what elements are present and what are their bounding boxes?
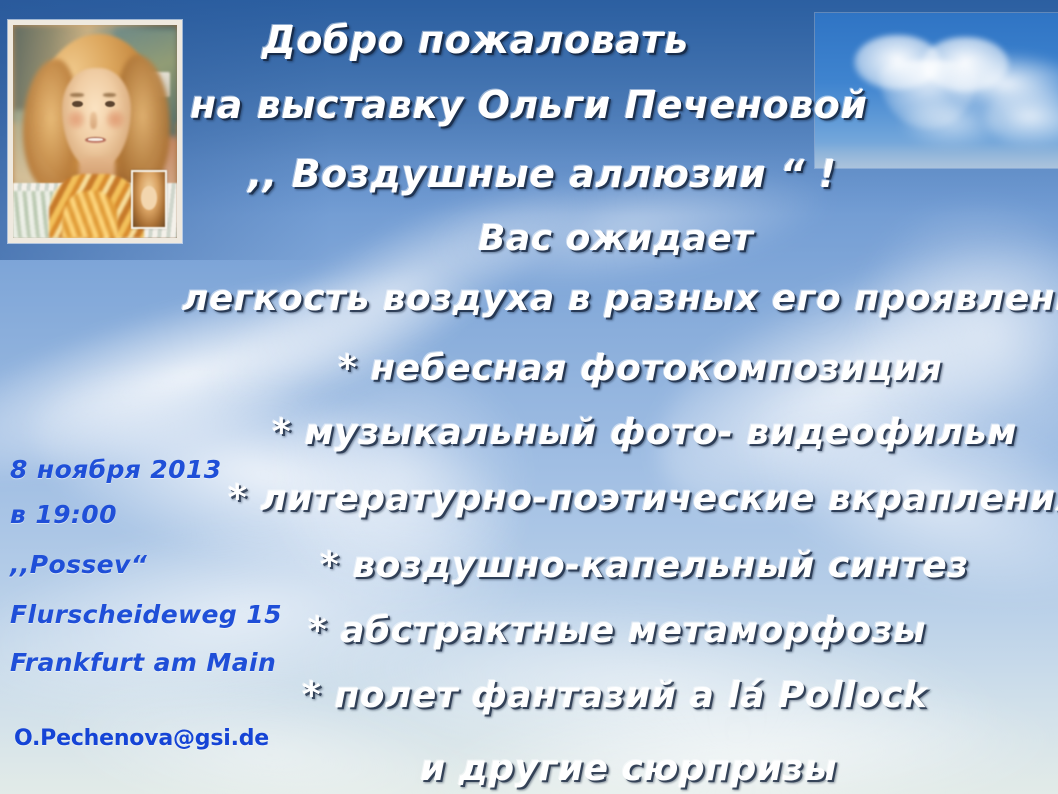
- body-line: * абстрактные метаморфозы: [308, 610, 926, 651]
- title-line: на выставку Ольги Печеновой: [190, 83, 868, 127]
- title-line: Добро пожаловать: [262, 18, 689, 62]
- body-line: Вас ожидает: [478, 218, 754, 259]
- body-line: * полет фантазий a lá Pollock: [302, 675, 927, 716]
- info-line-street: Flurscheideweg 15: [10, 600, 282, 629]
- info-line-venue: ,,Possev“: [10, 550, 147, 579]
- contact-email[interactable]: O.Pechenova@gsi.de: [14, 726, 269, 751]
- body-line: * музыкальный фото- видеофильм: [272, 412, 1017, 453]
- body-line: * литературно-поэтические вкрапления: [228, 478, 1058, 519]
- title-line: ,, Воздушные аллюзии “ !: [248, 152, 837, 196]
- info-line-city: Frankfurt am Main: [10, 648, 276, 677]
- info-line-time: в 19:00: [10, 500, 117, 529]
- body-line: легкость воздуха в разных его проявления…: [182, 278, 1058, 319]
- body-line: * воздушно-капельный синтез: [320, 545, 969, 586]
- body-line: * небесная фотокомпозиция: [338, 348, 942, 389]
- info-line-date: 8 ноября 2013: [10, 455, 222, 484]
- body-line: и другие сюрпризы: [420, 748, 837, 789]
- poster-canvas: Добро пожаловать на выставку Ольги Печен…: [0, 0, 1058, 794]
